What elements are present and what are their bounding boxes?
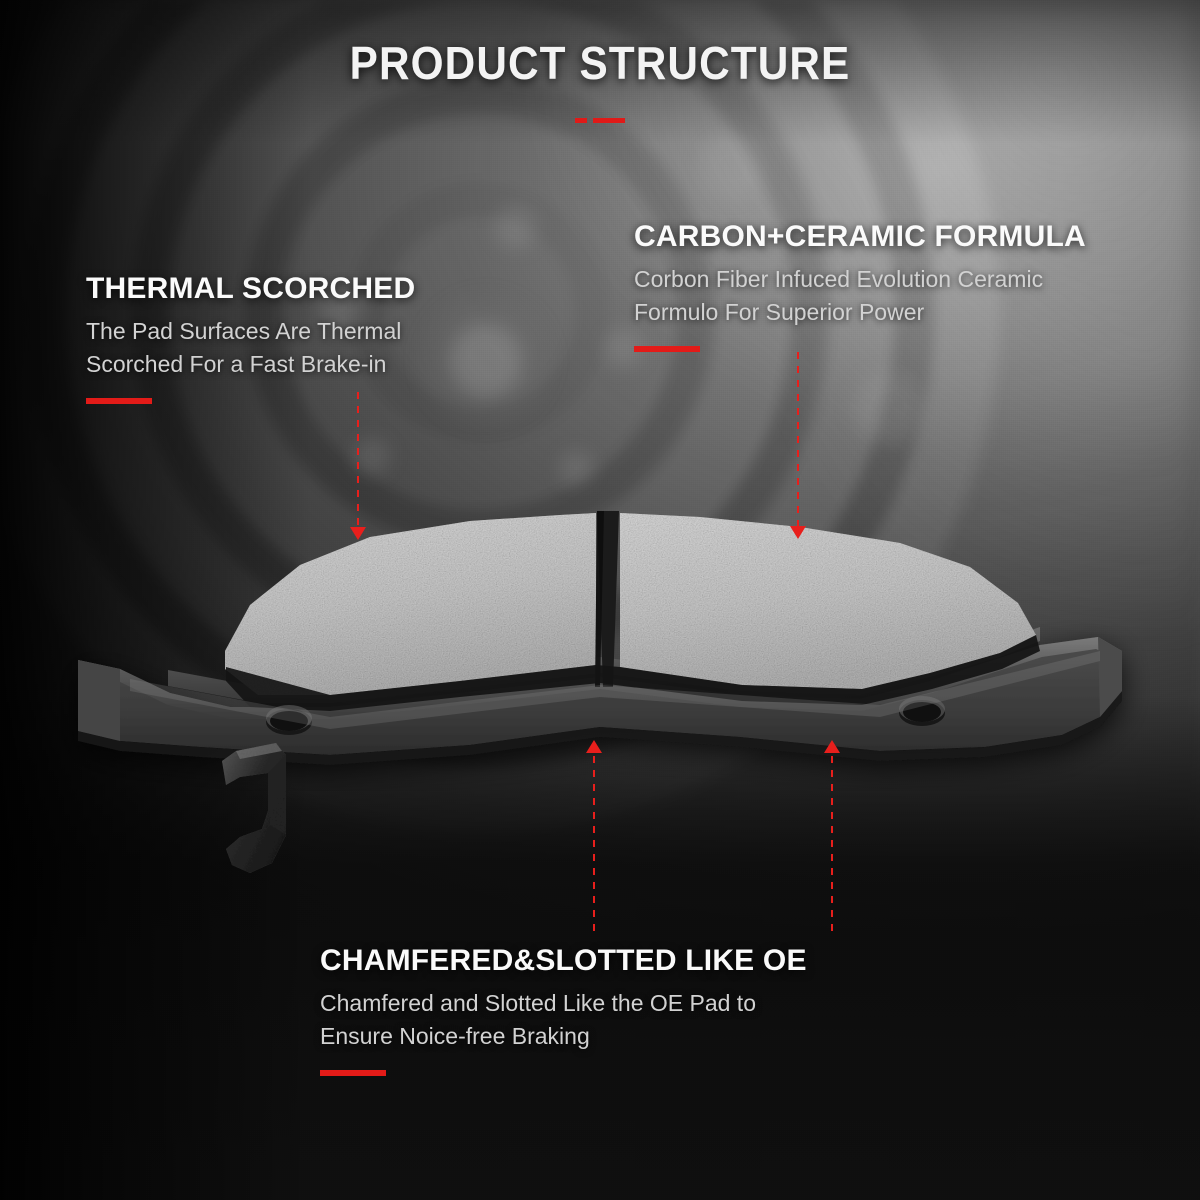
- arrowhead-down-icon: [790, 526, 806, 539]
- arrowhead-up-icon: [586, 740, 602, 753]
- leader-line-chamfer-right: [831, 742, 833, 934]
- callout-chamfered-slotted: CHAMFERED&SLOTTED LIKE OE Chamfered and …: [320, 944, 807, 1076]
- brake-pad-product-image: [0, 455, 1200, 925]
- callout-body-line-2: Scorched For a Fast Brake-in: [86, 348, 415, 381]
- callout-accent-rule: [320, 1070, 386, 1076]
- arrowhead-down-icon: [350, 527, 366, 540]
- leader-line-chamfer-left: [593, 742, 595, 934]
- callout-body: The Pad Surfaces Are Thermal Scorched Fo…: [86, 315, 415, 380]
- leader-line-formula: [797, 352, 799, 537]
- leader-line-thermal: [357, 392, 359, 538]
- callout-carbon-ceramic-formula: CARBON+CERAMIC FORMULA Corbon Fiber Infu…: [634, 220, 1086, 352]
- callout-heading: CHAMFERED&SLOTTED LIKE OE: [320, 944, 807, 978]
- friction-material-left: [225, 513, 596, 695]
- title-accent-short-dash: [575, 118, 587, 123]
- dashed-line: [593, 742, 595, 934]
- callout-body: Chamfered and Slotted Like the OE Pad to…: [320, 987, 807, 1052]
- callout-heading: CARBON+CERAMIC FORMULA: [634, 220, 1086, 254]
- callout-thermal-scorched: THERMAL SCORCHED The Pad Surfaces Are Th…: [86, 272, 415, 404]
- callout-body-line-1: The Pad Surfaces Are Thermal: [86, 315, 415, 348]
- callout-accent-rule: [86, 398, 152, 404]
- callout-heading: THERMAL SCORCHED: [86, 272, 415, 306]
- callout-body-line-2: Formulo For Superior Power: [634, 296, 1086, 329]
- callout-body-line-2: Ensure Noice-free Braking: [320, 1020, 807, 1053]
- arrowhead-up-icon: [824, 740, 840, 753]
- dashed-line: [797, 352, 799, 537]
- callout-body-line-1: Corbon Fiber Infuced Evolution Ceramic: [634, 263, 1086, 296]
- product-structure-infographic: PRODUCT STRUCTURE: [0, 0, 1200, 1200]
- wear-indicator-clip: [222, 743, 286, 873]
- callout-body: Corbon Fiber Infuced Evolution Ceramic F…: [634, 263, 1086, 328]
- dashed-line: [831, 742, 833, 934]
- callout-body-line-1: Chamfered and Slotted Like the OE Pad to: [320, 987, 807, 1020]
- title-accent-mark: [0, 118, 1200, 123]
- ear-left: [78, 660, 120, 741]
- title-accent-long-dash: [593, 118, 625, 123]
- page-title: PRODUCT STRUCTURE: [48, 36, 1152, 90]
- dashed-line: [357, 392, 359, 538]
- callout-accent-rule: [634, 346, 700, 352]
